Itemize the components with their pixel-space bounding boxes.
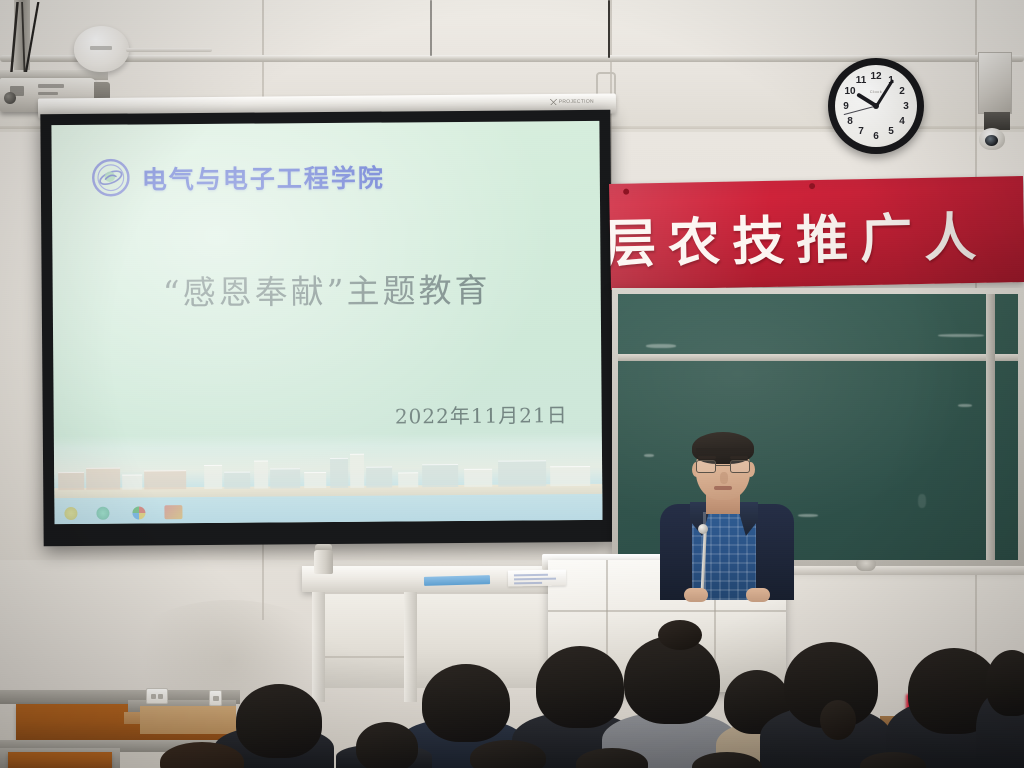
wall-mounted-unit	[978, 52, 1012, 114]
audience-head-4	[536, 646, 624, 728]
screen-brand-text: PROJECTION	[559, 99, 594, 105]
presenter-mouth	[714, 486, 732, 490]
wall-clock: Clock 121234567891011	[828, 58, 924, 154]
clock-face: Clock 121234567891011	[835, 65, 917, 147]
presenter-brow-left	[698, 456, 716, 459]
blue-folder	[424, 575, 490, 586]
projection-screen: 电气与电子工程学院 “感恩奉献”主题教育 2022年11月21日	[40, 110, 613, 546]
clock-numeral-2: 2	[895, 84, 909, 98]
desk-leg-left	[312, 592, 325, 702]
taskbar-icon-d	[164, 505, 182, 519]
access-point-label	[90, 46, 112, 50]
clock-brand-label: Clock	[870, 89, 883, 94]
wifi-access-point	[74, 26, 129, 72]
brand-mark-icon	[550, 99, 557, 105]
tray-clip-right	[856, 560, 876, 571]
dome-camera-icon	[979, 128, 1005, 150]
blackboard-divider-rail	[618, 354, 1018, 361]
clock-numeral-12: 12	[869, 69, 883, 83]
slide-date: 2022年11月21日	[395, 399, 568, 429]
projector-vent-a	[38, 84, 64, 88]
clock-numeral-5: 5	[884, 125, 898, 139]
red-event-banner: 层农技推广人	[609, 176, 1024, 290]
banner-sheen	[609, 176, 1024, 290]
papers-stack	[508, 569, 566, 586]
clock-numeral-3: 3	[899, 99, 913, 113]
wall-outlet-b	[209, 690, 222, 706]
projector-vent-b	[38, 92, 58, 95]
desk-top-b	[140, 706, 236, 734]
presentation-slide: 电气与电子工程学院 “感恩奉献”主题教育 2022年11月21日	[51, 121, 602, 524]
clock-numeral-11: 11	[854, 73, 868, 87]
audience-head-1	[236, 684, 322, 758]
photo-skyline	[54, 440, 602, 490]
thermos-cup	[314, 550, 333, 574]
chrome-icon	[132, 506, 145, 519]
presenter-hand-left	[684, 588, 708, 602]
projector-lens-icon	[4, 92, 16, 104]
banner-pin-left	[623, 189, 629, 195]
cable-bundle	[2, 2, 46, 72]
microphone-icon	[698, 524, 708, 534]
student-desk-c	[8, 752, 112, 768]
slide-campus-photo	[54, 432, 603, 524]
presenter	[640, 424, 820, 600]
screen-brand-logo: PROJECTION	[550, 99, 594, 105]
blackboard-vertical-divider	[986, 294, 995, 560]
desk-leg-mid	[404, 592, 417, 702]
audience-head-11	[470, 740, 546, 768]
presenter-brow-right	[730, 456, 748, 459]
clock-numeral-8: 8	[843, 114, 857, 128]
audience-ponytail-7	[820, 700, 856, 740]
audience-head-2	[422, 664, 510, 742]
classroom-lecture-photo: PROJECTION 电气与电子工程学院 “感恩奉献”主题教育 2022年11月…	[0, 0, 1024, 768]
clock-center-pin	[873, 103, 879, 109]
access-point-cable	[126, 48, 212, 52]
hanging-cable-b	[430, 0, 432, 56]
wall-outlet-a	[146, 688, 168, 704]
presenter-nose	[720, 472, 728, 484]
audience-hair-bun-5	[658, 620, 702, 650]
taskbar-icon-a	[64, 507, 77, 520]
audience-head-3	[356, 722, 418, 768]
presenter-hand-right	[746, 588, 770, 602]
slide-organization-title: 电气与电子工程学院	[142, 159, 385, 197]
university-emblem-icon	[92, 159, 130, 197]
clock-numeral-9: 9	[839, 99, 853, 113]
wall-unit-base	[984, 112, 1010, 130]
banner-pin-mid	[809, 183, 815, 189]
hanging-cable-a	[608, 0, 610, 58]
clock-numeral-6: 6	[869, 129, 883, 143]
slide-main-title: “感恩奉献”主题教育	[53, 263, 601, 315]
taskbar-icon-b	[96, 507, 109, 520]
